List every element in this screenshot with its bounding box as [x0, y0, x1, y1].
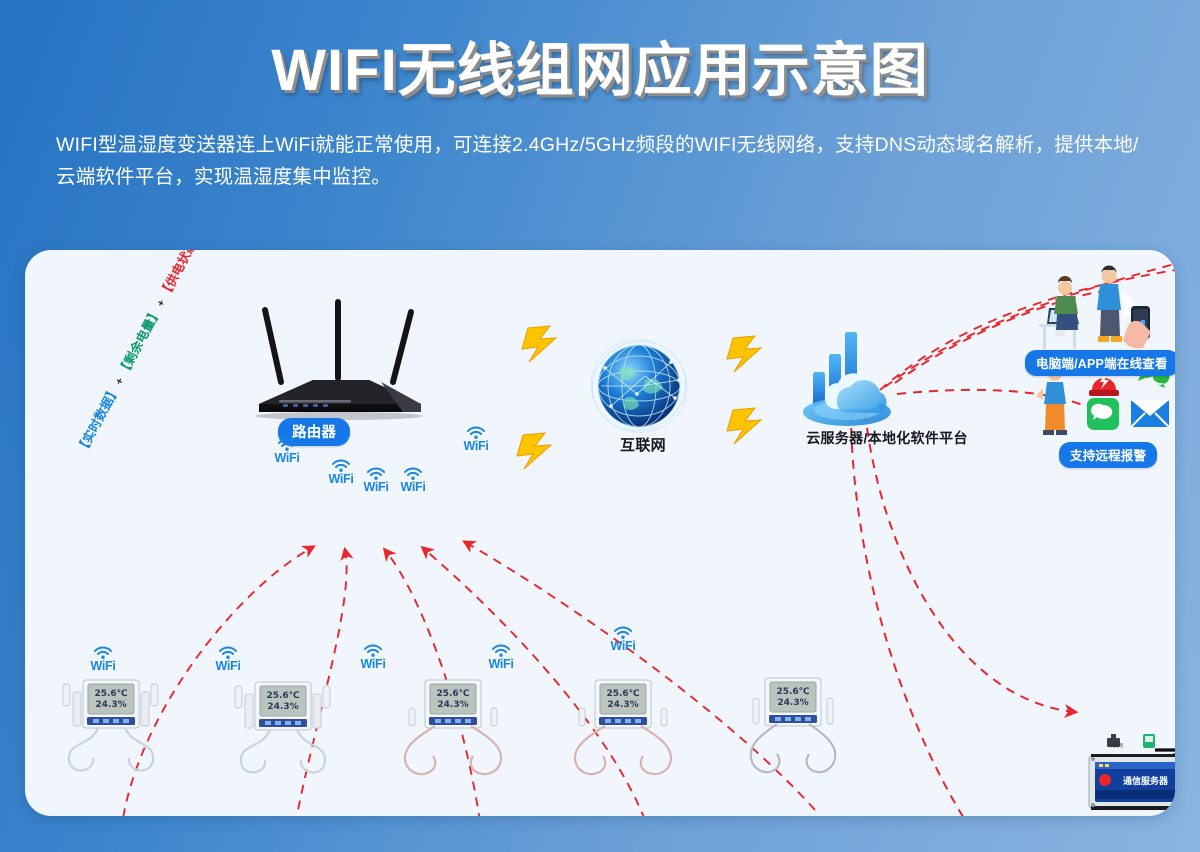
wifi-label: WiFi — [458, 440, 494, 453]
svg-text:24.3%: 24.3% — [777, 698, 808, 708]
svg-text:25.6℃: 25.6℃ — [776, 687, 809, 697]
svg-text:24.3%: 24.3% — [267, 702, 298, 712]
temp-humidity-transmitter-icon: 25.6℃ 24.3% — [235, 682, 330, 772]
svg-text:25.6℃: 25.6℃ — [94, 689, 127, 699]
wifi-label: WiFi — [355, 658, 391, 671]
temp-humidity-transmitter-icon: 25.6℃ 24.3% — [405, 680, 501, 774]
svg-text:通信服务器: 通信服务器 — [1123, 775, 1169, 787]
flow-label-plus-1: + — [113, 376, 127, 387]
wifi-icon-sensor-2: WiFi — [210, 645, 246, 673]
svg-text:25.6℃: 25.6℃ — [266, 691, 299, 701]
page-subtitle: WIFI型温湿度变送器连上WiFi就能正常使用，可连接2.4GHz/5GHz频段… — [56, 130, 1144, 193]
temp-humidity-transmitter-icon: 25.6℃ 24.3% — [751, 678, 836, 772]
gateway-device-icon: 通信服务器 — [1089, 732, 1175, 810]
globe-icon — [579, 327, 699, 444]
wifi-icon-sensor-3: WiFi — [355, 643, 391, 671]
svg-text:25.6℃: 25.6℃ — [436, 689, 469, 699]
node-pcapp-label[interactable]: 电脑端/APP端在线查看 — [1025, 350, 1175, 376]
flow-label-plus-2: + — [155, 298, 169, 309]
person-with-laptop-icon — [1039, 276, 1079, 349]
wifi-label: WiFi — [210, 660, 246, 673]
alarm-pill[interactable]: 支持远程报警 — [1059, 442, 1157, 468]
wifi-icon-arc-2: WiFi — [323, 458, 359, 486]
wifi-label: WiFi — [483, 658, 519, 671]
cloud-server-icon — [803, 332, 891, 426]
wifi-label: WiFi — [323, 473, 359, 486]
page-title: WIFI无线组网应用示意图 — [0, 42, 1200, 100]
page-header: WIFI无线组网应用示意图 WIFI型温湿度变送器连上WiFi就能正常使用，可连… — [0, 0, 1200, 193]
diagram-card: 通信服务器 — [25, 250, 1175, 816]
wifi-icon-arc-5: WiFi — [458, 425, 494, 453]
wifi-label: WiFi — [395, 481, 431, 494]
pcapp-pill[interactable]: 电脑端/APP端在线查看 — [1025, 350, 1175, 376]
wifi-label: WiFi — [269, 452, 305, 465]
temp-humidity-transmitter-icon: 25.6℃ 24.3% — [575, 680, 671, 774]
wifi-label: WiFi — [605, 640, 641, 653]
wifi-icon-arc-3: WiFi — [358, 466, 394, 494]
node-internet-label: 互联网 — [608, 434, 678, 455]
person-with-phone-icon — [1097, 266, 1151, 349]
art-layer: 通信服务器 — [25, 250, 1175, 816]
node-cloud-label: 云服务器/本地化软件平台 — [782, 428, 992, 448]
ethernet-label-comm: 以太网 — [1104, 744, 1128, 749]
wifi-icon-sensor-5: WiFi — [605, 625, 641, 653]
svg-text:24.3%: 24.3% — [607, 700, 638, 710]
wifi-icon-sensor-4: WiFi — [483, 643, 519, 671]
envelope-icon — [1131, 400, 1169, 427]
sensor-group: 25.6℃ 24.3% 25.6℃ 24.3% — [63, 678, 835, 774]
svg-text:25.6℃: 25.6℃ — [606, 689, 639, 699]
wifi-icon-arc-4: WiFi — [395, 466, 431, 494]
temp-humidity-transmitter-icon: 25.6℃ 24.3% — [63, 680, 158, 770]
svg-text:24.3%: 24.3% — [437, 700, 468, 710]
wifi-label: WiFi — [358, 481, 394, 494]
wireless-router-icon — [255, 302, 423, 420]
sms-bubble-icon — [1087, 398, 1119, 430]
wifi-icon-sensor-1: WiFi — [85, 645, 121, 673]
node-alarm-label[interactable]: 支持远程报警 — [1059, 442, 1157, 468]
wifi-label: WiFi — [85, 660, 121, 673]
svg-text:24.3%: 24.3% — [95, 700, 126, 710]
wifi-icon-arc-1: WiFi — [269, 437, 305, 465]
